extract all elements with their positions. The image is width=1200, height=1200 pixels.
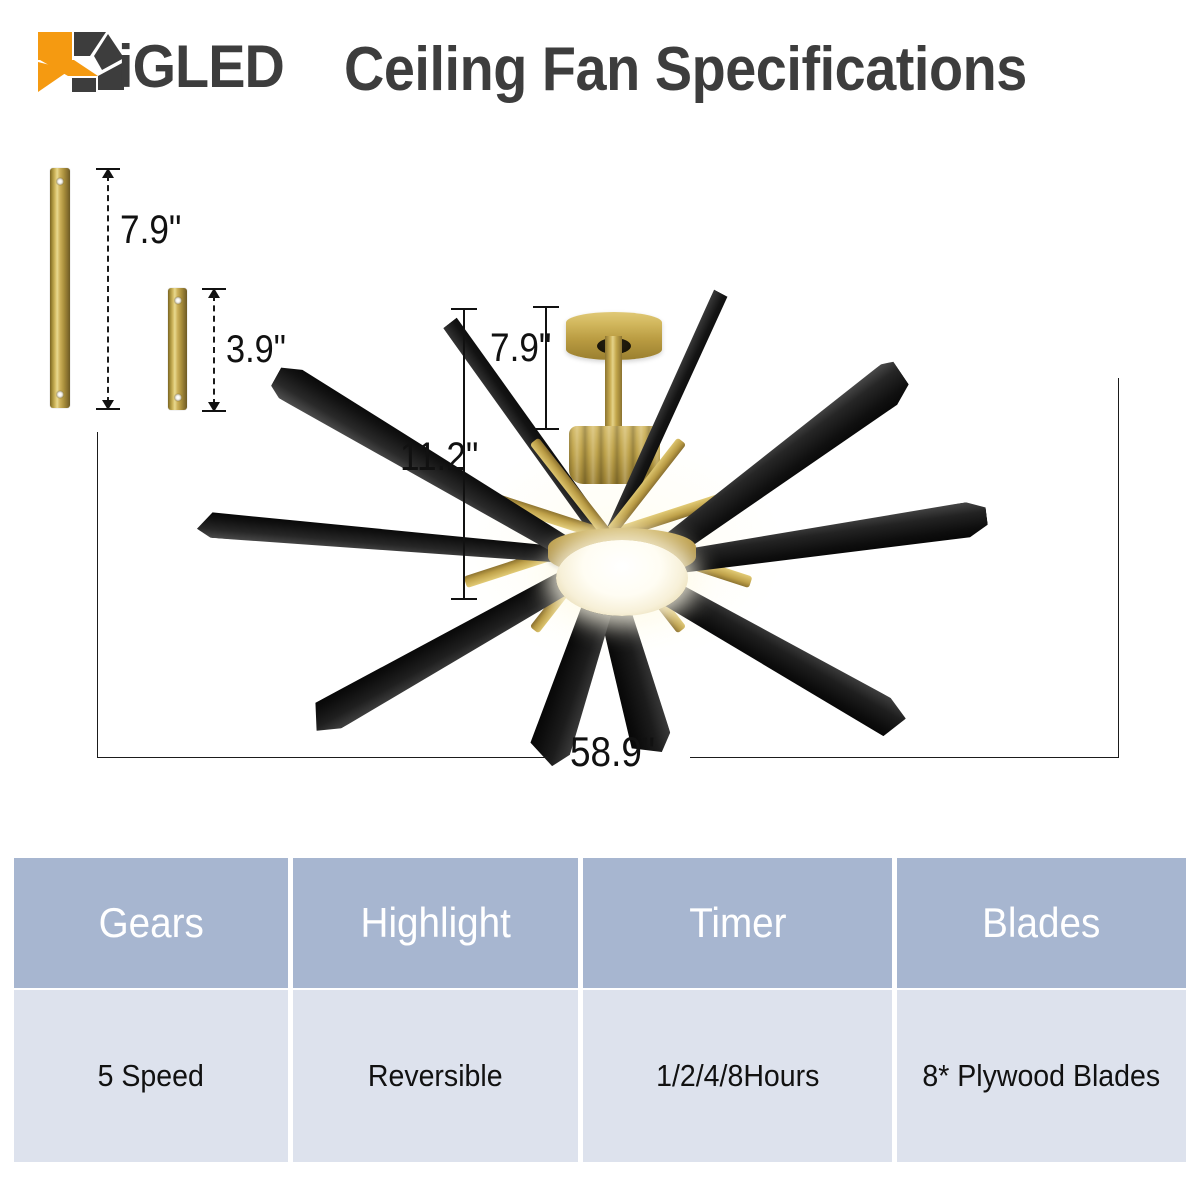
brand-name: iGLED (118, 32, 284, 101)
table-header-cell-blades: Blades (897, 858, 1186, 988)
specification-sheet: iGLED Ceiling Fan Specifications 7.9" (0, 0, 1200, 1200)
table-cell-highlight-value: Reversible (293, 990, 578, 1162)
cell-value: 8* Plywood Blades (923, 1058, 1161, 1094)
page-header: iGLED Ceiling Fan Specifications (0, 0, 1200, 130)
table-header-cell-timer: Timer (583, 858, 892, 988)
specifications-table: Gears Highlight Timer Blades 5 Speed Rev… (14, 858, 1186, 1162)
width-extension-line-left (97, 432, 98, 758)
cell-value: 5 Speed (98, 1058, 204, 1094)
header-label: Blades (982, 899, 1100, 947)
header-label: Gears (98, 899, 203, 947)
brand-logo: iGLED (32, 28, 332, 98)
cell-value: 1/2/4/8Hours (656, 1058, 819, 1094)
table-header-cell-highlight: Highlight (293, 858, 578, 988)
table-header-cell-gears: Gears (14, 858, 288, 988)
fan-blade (304, 564, 577, 740)
fan-diagram: 7.9" 3.9" (0, 130, 1200, 840)
header-label: Highlight (360, 899, 510, 947)
table-header-row: Gears Highlight Timer Blades (14, 858, 1186, 988)
fan-height-dimension-label: 11.2" (400, 435, 478, 480)
table-row: 5 Speed Reversible 1/2/4/8Hours 8* Plywo… (14, 990, 1186, 1162)
header-label: Timer (689, 899, 786, 947)
page-title: Ceiling Fan Specifications (344, 34, 1027, 105)
table-cell-gears-value: 5 Speed (14, 990, 288, 1162)
table-cell-blades-value: 8* Plywood Blades (897, 990, 1186, 1162)
led-light (556, 540, 688, 616)
table-cell-timer-value: 1/2/4/8Hours (583, 990, 892, 1162)
width-dimension-line-right (690, 757, 1119, 758)
fan-width-dimension-label: 58.9" (570, 728, 655, 776)
fan-downrod-dimension-label: 7.9" (490, 326, 551, 371)
width-dimension-line-left (97, 757, 549, 758)
cell-value: Reversible (368, 1058, 503, 1094)
width-extension-line-right (1118, 378, 1119, 758)
fan-downrod (605, 336, 622, 434)
